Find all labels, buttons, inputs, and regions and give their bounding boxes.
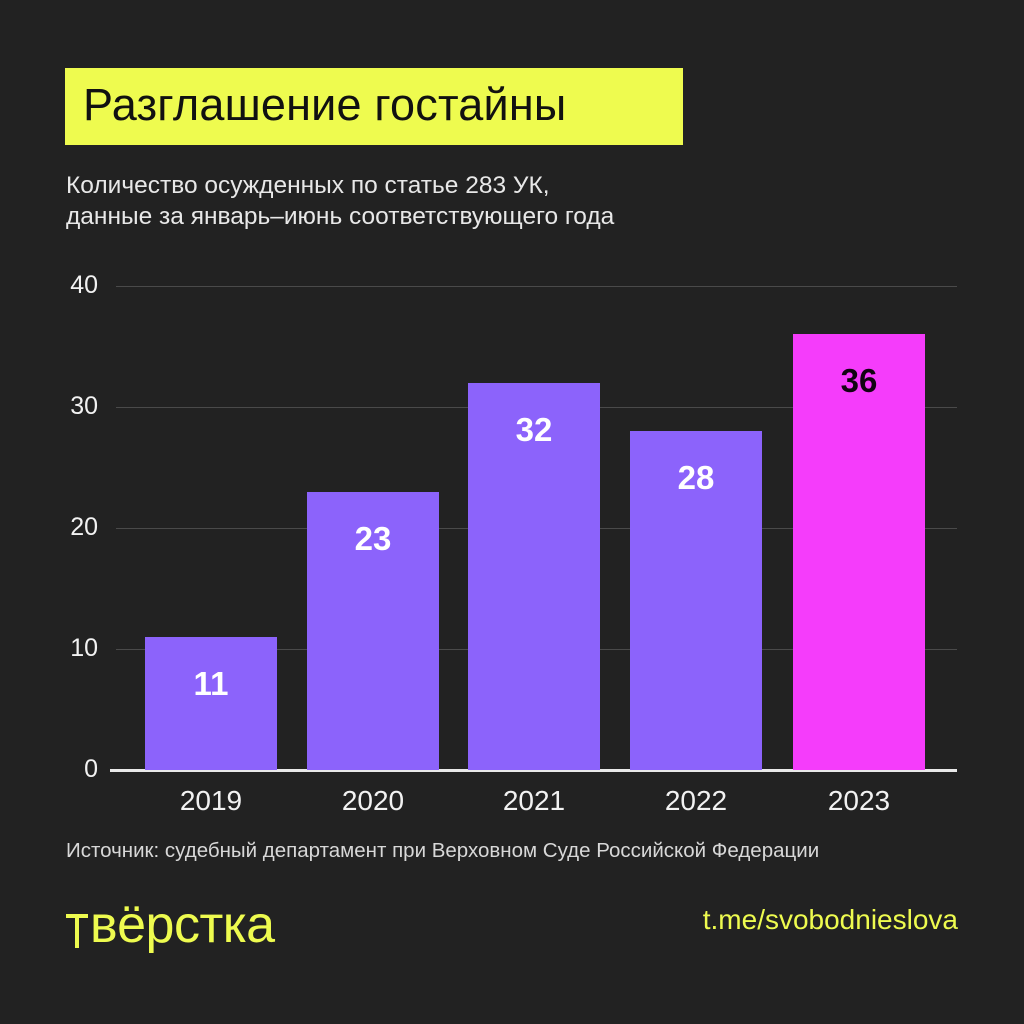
y-axis-tick-label: 20 bbox=[20, 515, 98, 540]
y-axis-tick-label: 40 bbox=[20, 273, 98, 298]
x-axis-tick-label: 2022 bbox=[630, 786, 762, 816]
x-axis-baseline bbox=[110, 769, 957, 772]
bar-2019[interactable]: 11 bbox=[145, 637, 277, 770]
x-axis-tick-label: 2021 bbox=[468, 786, 600, 816]
logo-glyph-icon bbox=[64, 904, 90, 950]
y-axis-tick-label: 30 bbox=[20, 394, 98, 419]
bar-2023[interactable]: 36 bbox=[793, 334, 925, 770]
chart-subtitle-line-2: данные за январь–июнь соответствующего г… bbox=[66, 201, 826, 232]
y-axis-tick-label: 0 bbox=[20, 757, 98, 782]
x-axis-tick-label: 2019 bbox=[145, 786, 277, 816]
bar-value-label: 23 bbox=[307, 522, 439, 555]
bars-group: 1123322836 bbox=[0, 286, 1024, 770]
source-note: Источник: судебный департамент при Верхо… bbox=[66, 838, 819, 864]
gridline bbox=[116, 528, 957, 529]
gridline bbox=[116, 649, 957, 650]
title-banner: Разглашение гостайны bbox=[65, 68, 683, 145]
y-axis-ticks: 010203040 bbox=[20, 0, 98, 1024]
bar-2022[interactable]: 28 bbox=[630, 431, 762, 770]
page-title: Разглашение гостайны bbox=[83, 82, 566, 127]
x-axis-tick-label: 2023 bbox=[793, 786, 925, 816]
bar-value-label: 32 bbox=[468, 413, 600, 446]
bar-2020[interactable]: 23 bbox=[307, 492, 439, 770]
infographic-canvas: Разглашение гостайны Количество осужденн… bbox=[0, 0, 1024, 1024]
bar-value-label: 36 bbox=[793, 364, 925, 397]
bar-value-label: 11 bbox=[145, 667, 277, 700]
verstka-logo-text: вёрстка bbox=[90, 900, 275, 950]
verstka-logo[interactable]: вёрстка bbox=[64, 898, 275, 950]
x-axis-tick-label: 2020 bbox=[307, 786, 439, 816]
bar-chart: 010203040 1123322836 2019202020212022202… bbox=[0, 0, 1024, 1024]
gridline bbox=[116, 286, 957, 287]
y-axis-tick-label: 10 bbox=[20, 636, 98, 661]
bar-2021[interactable]: 32 bbox=[468, 383, 600, 770]
gridline bbox=[116, 407, 957, 408]
bar-value-label: 28 bbox=[630, 461, 762, 494]
telegram-handle[interactable]: t.me/svobodnieslova bbox=[703, 904, 958, 936]
chart-subtitle: Количество осужденных по статье 283 УК, … bbox=[66, 170, 826, 232]
chart-subtitle-line-1: Количество осужденных по статье 283 УК, bbox=[66, 170, 826, 201]
